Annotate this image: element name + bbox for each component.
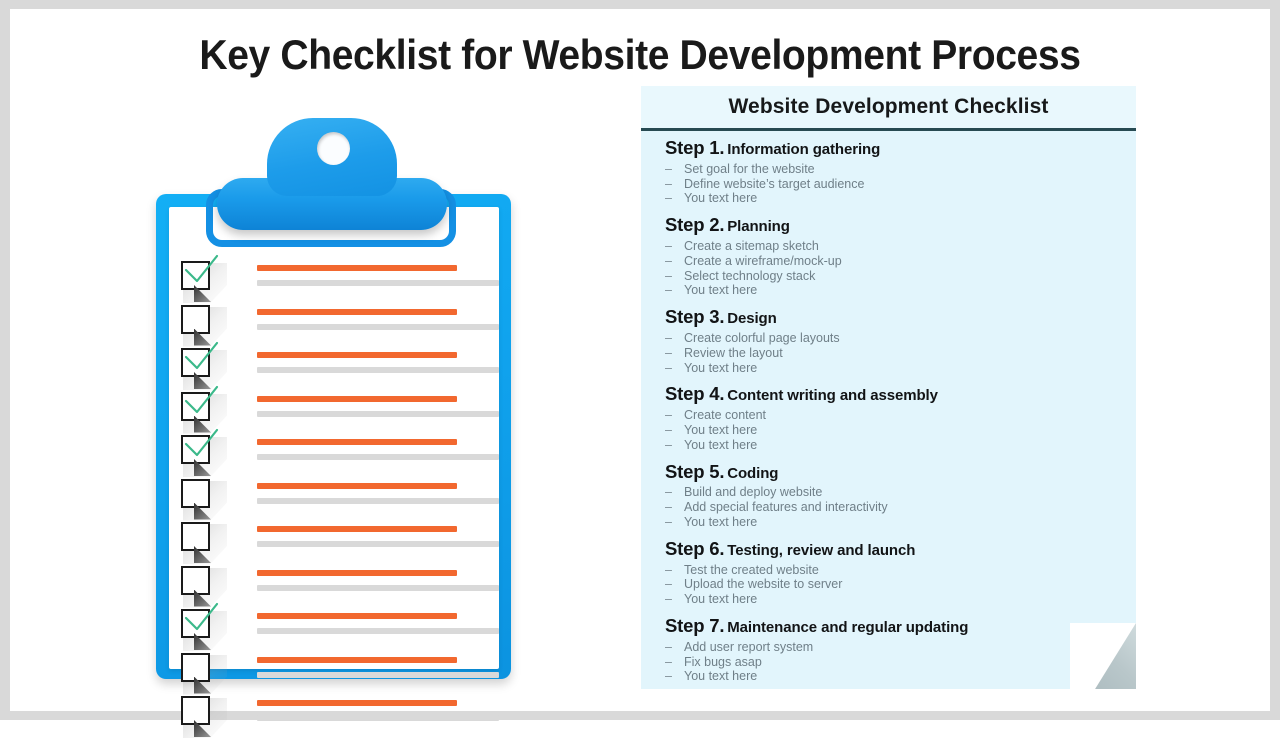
step-item: –Build and deploy website [665, 485, 1114, 500]
slide-canvas: Key Checklist for Website Development Pr… [10, 9, 1270, 711]
bullet-dash-icon: – [665, 162, 672, 177]
corner-fold-triangle [1070, 623, 1136, 689]
row-bar-primary [257, 483, 457, 489]
step-item: –Define website’s target audience [665, 177, 1114, 192]
bullet-dash-icon: – [665, 423, 672, 438]
clipboard-row [169, 344, 499, 388]
step-title: Testing, review and launch [727, 542, 915, 559]
row-bar-primary [257, 309, 457, 315]
row-bar-secondary [257, 411, 499, 417]
checkbox-checked[interactable] [181, 348, 210, 377]
row-bar-secondary [257, 280, 499, 286]
step-item-label: Set goal for the website [684, 162, 815, 176]
checkbox-checked[interactable] [181, 609, 210, 638]
clipboard-row [169, 388, 499, 432]
step-item-label: Create colorful page layouts [684, 331, 840, 345]
bullet-dash-icon: – [665, 577, 672, 592]
bullet-dash-icon: – [665, 283, 672, 298]
step-number: Step 1. [665, 137, 724, 158]
step-title: Coding [727, 465, 778, 482]
clipboard-row [169, 562, 499, 606]
bullet-dash-icon: – [665, 640, 672, 655]
step-item-list: –Create a sitemap sketch–Create a wirefr… [665, 239, 1114, 298]
step-item-label: Create a wireframe/mock-up [684, 254, 842, 268]
step-item-label: Test the created website [684, 563, 819, 577]
bullet-dash-icon: – [665, 191, 672, 206]
step-item: –You text here [665, 438, 1114, 453]
step-item: –Select technology stack [665, 269, 1114, 284]
step-list: Step 1.Information gathering–Set goal fo… [641, 138, 1136, 693]
bullet-dash-icon: – [665, 655, 672, 670]
step-item-label: You text here [684, 283, 757, 297]
clipboard-row [169, 518, 499, 562]
step-block: Step 1.Information gathering–Set goal fo… [665, 138, 1114, 206]
step-item: –Create colorful page layouts [665, 331, 1114, 346]
clipboard-row-list [169, 207, 499, 669]
checkbox-unchecked[interactable] [181, 566, 210, 595]
step-heading: Step 6.Testing, review and launch [665, 539, 1114, 560]
bullet-dash-icon: – [665, 592, 672, 607]
row-bar-secondary [257, 324, 499, 330]
step-block: Step 3.Design–Create colorful page layou… [665, 307, 1114, 375]
step-item-list: –Create colorful page layouts–Review the… [665, 331, 1114, 375]
step-heading: Step 3.Design [665, 307, 1114, 328]
step-block: Step 2.Planning–Create a sitemap sketch–… [665, 215, 1114, 298]
checkbox-unchecked[interactable] [181, 305, 210, 334]
bullet-dash-icon: – [665, 177, 672, 192]
step-item: –Create a wireframe/mock-up [665, 254, 1114, 269]
bullet-dash-icon: – [665, 563, 672, 578]
step-number: Step 5. [665, 461, 724, 482]
bullet-dash-icon: – [665, 515, 672, 530]
clipboard-clip-hole [317, 132, 350, 165]
row-bar-secondary [257, 367, 499, 373]
clipboard-row [169, 431, 499, 475]
row-bar-secondary [257, 715, 499, 721]
step-block: Step 6.Testing, review and launch–Test t… [665, 539, 1114, 607]
row-bar-primary [257, 700, 457, 706]
row-bar-secondary [257, 585, 499, 591]
page-title: Key Checklist for Website Development Pr… [54, 31, 1226, 79]
step-item: –Add special features and interactivity [665, 500, 1114, 515]
step-item-label: Select technology stack [684, 269, 815, 283]
step-block: Step 4.Content writing and assembly–Crea… [665, 384, 1114, 452]
row-bar-secondary [257, 628, 499, 634]
row-bar-secondary [257, 454, 499, 460]
row-bar-primary [257, 439, 457, 445]
panel-header-title: Website Development Checklist [729, 95, 1049, 119]
step-item-list: –Add user report system–Fix bugs asap–Yo… [665, 640, 1114, 684]
checkbox-unchecked[interactable] [181, 479, 210, 508]
step-item: –Set goal for the website [665, 162, 1114, 177]
page-corner-fold [1070, 623, 1136, 689]
bullet-dash-icon: – [665, 331, 672, 346]
step-heading: Step 5.Coding [665, 462, 1114, 483]
step-item-label: You text here [684, 438, 757, 452]
step-item: –You text here [665, 361, 1114, 376]
bullet-dash-icon: – [665, 254, 672, 269]
step-title: Design [727, 310, 776, 327]
step-item-label: You text here [684, 423, 757, 437]
bullet-dash-icon: – [665, 346, 672, 361]
step-number: Step 7. [665, 615, 724, 636]
step-item: –You text here [665, 592, 1114, 607]
clipboard-row [169, 649, 499, 693]
step-heading: Step 4.Content writing and assembly [665, 384, 1114, 405]
step-item-list: –Set goal for the website–Define website… [665, 162, 1114, 206]
row-bar-secondary [257, 672, 499, 678]
step-item-label: You text here [684, 669, 757, 683]
step-item: –You text here [665, 423, 1114, 438]
bullet-dash-icon: – [665, 438, 672, 453]
step-title: Content writing and assembly [727, 387, 938, 404]
step-item-list: –Build and deploy website–Add special fe… [665, 485, 1114, 529]
step-item-label: You text here [684, 191, 757, 205]
row-bar-primary [257, 265, 457, 271]
clipboard-row [169, 257, 499, 301]
step-block: Step 5.Coding–Build and deploy website–A… [665, 462, 1114, 530]
step-item: –You text here [665, 283, 1114, 298]
step-heading: Step 2.Planning [665, 215, 1114, 236]
bullet-dash-icon: – [665, 239, 672, 254]
step-item-label: Create content [684, 408, 766, 422]
step-item-label: Upload the website to server [684, 577, 842, 591]
step-title: Planning [727, 218, 790, 235]
row-bar-primary [257, 526, 457, 532]
row-bar-secondary [257, 541, 499, 547]
step-item: –Review the layout [665, 346, 1114, 361]
step-item: –Create a sitemap sketch [665, 239, 1114, 254]
checkbox-unchecked[interactable] [181, 696, 210, 725]
step-item-list: –Test the created website–Upload the web… [665, 563, 1114, 607]
checkbox-checked[interactable] [181, 261, 210, 290]
step-item: –You text here [665, 515, 1114, 530]
step-heading: Step 7.Maintenance and regular updating [665, 616, 1114, 637]
step-number: Step 2. [665, 214, 724, 235]
step-block: Step 7.Maintenance and regular updating–… [665, 616, 1114, 684]
step-item-label: Build and deploy website [684, 485, 822, 499]
panel-header: Website Development Checklist [641, 86, 1136, 131]
step-item-label: You text here [684, 592, 757, 606]
step-item: –Create content [665, 408, 1114, 423]
step-item-label: Add user report system [684, 640, 813, 654]
slide-frame: Key Checklist for Website Development Pr… [0, 0, 1280, 720]
step-item: –You text here [665, 669, 1114, 684]
checkbox-checked[interactable] [181, 435, 210, 464]
step-number: Step 3. [665, 306, 724, 327]
row-bar-primary [257, 352, 457, 358]
clipboard-row [169, 475, 499, 519]
step-heading: Step 1.Information gathering [665, 138, 1114, 159]
bullet-dash-icon: – [665, 669, 672, 684]
step-item-label: You text here [684, 515, 757, 529]
row-bar-primary [257, 613, 457, 619]
row-bar-primary [257, 657, 457, 663]
step-number: Step 6. [665, 538, 724, 559]
bullet-dash-icon: – [665, 408, 672, 423]
bullet-dash-icon: – [665, 269, 672, 284]
step-item: –Fix bugs asap [665, 655, 1114, 670]
step-item: –Test the created website [665, 563, 1114, 578]
checklist-panel: Website Development Checklist Step 1.Inf… [641, 86, 1136, 689]
bullet-dash-icon: – [665, 361, 672, 376]
bullet-dash-icon: – [665, 500, 672, 515]
checkbox-unchecked[interactable] [181, 653, 210, 682]
step-item-label: Add special features and interactivity [684, 500, 888, 514]
row-bar-secondary [257, 498, 499, 504]
checkbox-checked[interactable] [181, 392, 210, 421]
step-item-list: –Create content–You text here–You text h… [665, 408, 1114, 452]
bullet-dash-icon: – [665, 485, 672, 500]
step-item-label: Review the layout [684, 346, 783, 360]
clipboard-row [169, 692, 499, 736]
row-bar-primary [257, 396, 457, 402]
step-item: –You text here [665, 191, 1114, 206]
clipboard-row [169, 605, 499, 649]
step-item: –Add user report system [665, 640, 1114, 655]
step-title: Maintenance and regular updating [727, 619, 968, 636]
checkbox-unchecked[interactable] [181, 522, 210, 551]
step-item: –Upload the website to server [665, 577, 1114, 592]
step-item-label: You text here [684, 361, 757, 375]
step-item-label: Fix bugs asap [684, 655, 762, 669]
clipboard-illustration [145, 104, 520, 689]
step-item-label: Define website’s target audience [684, 177, 864, 191]
step-number: Step 4. [665, 383, 724, 404]
clipboard-row [169, 301, 499, 345]
row-bar-primary [257, 570, 457, 576]
step-title: Information gathering [727, 141, 880, 158]
step-item-label: Create a sitemap sketch [684, 239, 819, 253]
